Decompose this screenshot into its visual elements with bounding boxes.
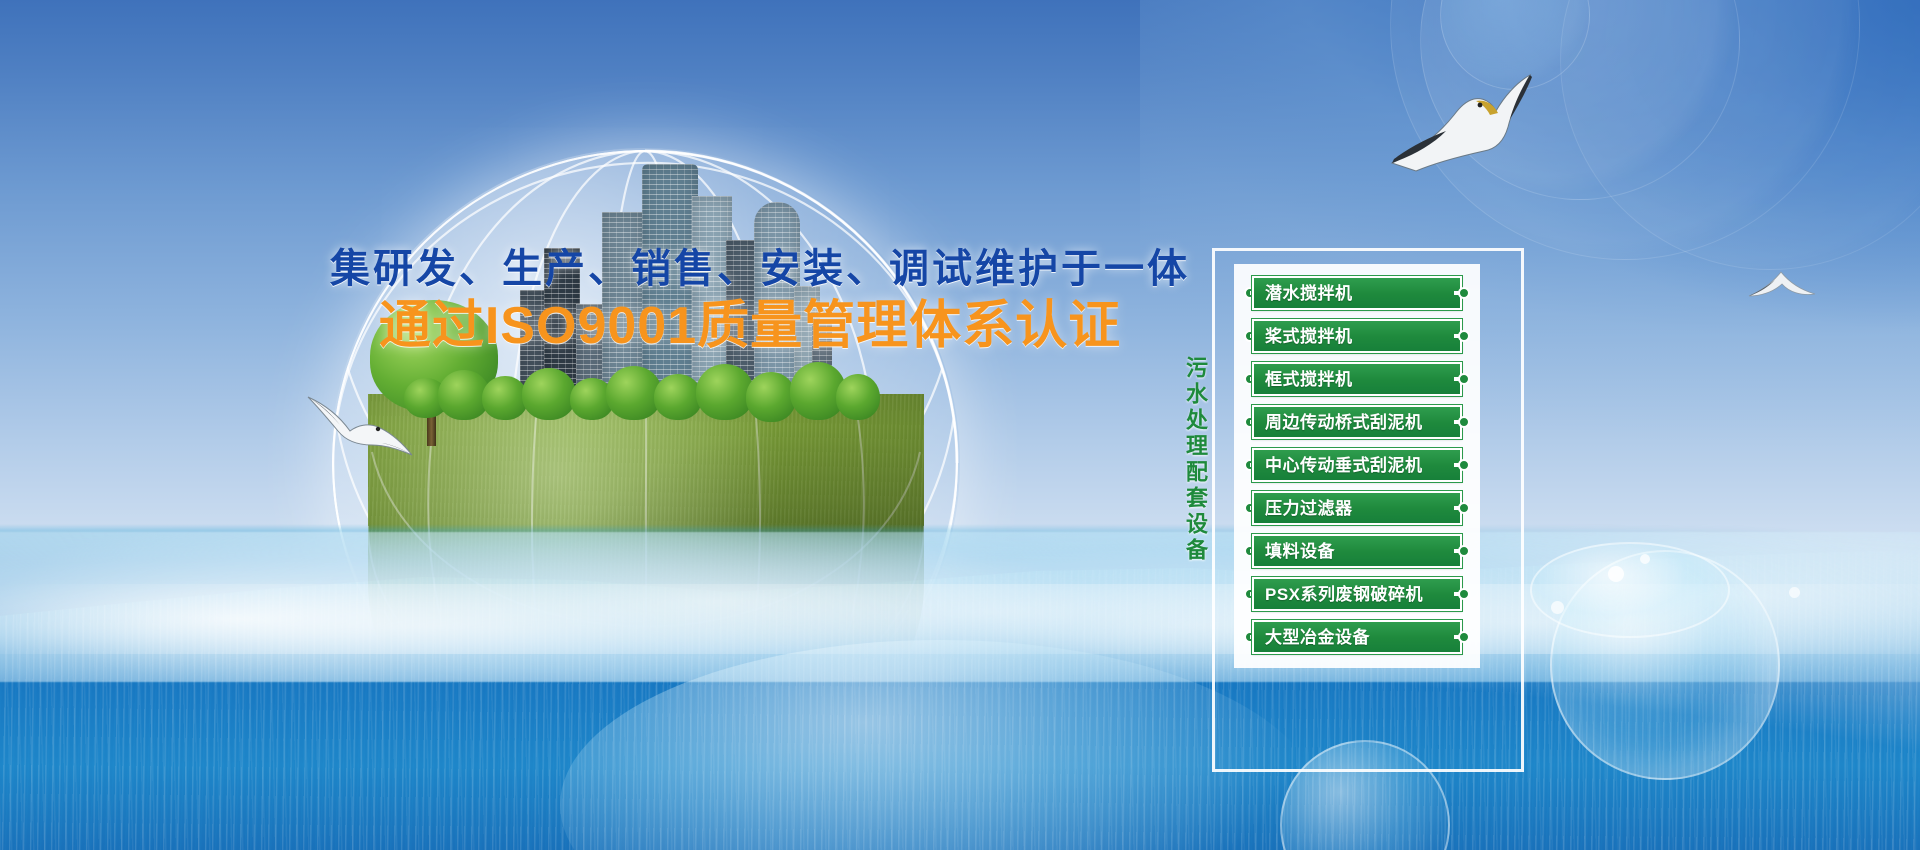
product-label: 桨式搅拌机 [1265,328,1353,345]
water-ripple-texture [0,550,1920,850]
product-label: 压力过滤器 [1265,500,1353,517]
plate-knob-right-icon [1458,631,1470,643]
product-label: 中心传动垂式刮泥机 [1265,457,1423,474]
plate-knob-right-icon [1458,545,1470,557]
product-label: 大型冶金设备 [1265,629,1370,646]
plate-knob-right-icon [1458,330,1470,342]
list-item[interactable]: 框式搅拌机 [1242,362,1472,396]
product-label: PSX系列废钢破碎机 [1265,586,1423,603]
product-plate[interactable]: 桨式搅拌机 [1252,319,1462,353]
product-label: 潜水搅拌机 [1265,285,1353,302]
product-plate[interactable]: 框式搅拌机 [1252,362,1462,396]
product-plate[interactable]: 大型冶金设备 [1252,620,1462,654]
list-item[interactable]: 填料设备 [1242,534,1472,568]
product-plate[interactable]: 周边传动桥式刮泥机 [1252,405,1462,439]
list-item[interactable]: 周边传动桥式刮泥机 [1242,405,1472,439]
list-item[interactable]: 压力过滤器 [1242,491,1472,525]
list-item[interactable]: 中心传动垂式刮泥机 [1242,448,1472,482]
plate-knob-right-icon [1458,416,1470,428]
list-item[interactable]: 大型冶金设备 [1242,620,1472,654]
headline-block: 集研发、生产、销售、安装、调试维护于一体 通过ISO9001质量管理体系认证 [330,246,1170,355]
headline-primary: 集研发、生产、销售、安装、调试维护于一体 [330,246,1170,292]
panel-vertical-label: 污水处理配套设备 [1184,356,1206,564]
plate-knob-right-icon [1458,373,1470,385]
product-plate[interactable]: 潜水搅拌机 [1252,276,1462,310]
product-list: 潜水搅拌机 桨式搅拌机 框式搅拌机 [1234,264,1480,668]
water-layer [0,520,1920,850]
product-list-panel: 污水处理配套设备 潜水搅拌机 桨式搅拌机 [1212,248,1524,772]
headline-secondary: 通过ISO9001质量管理体系认证 [330,298,1170,355]
plate-knob-right-icon [1458,287,1470,299]
product-plate[interactable]: 压力过滤器 [1252,491,1462,525]
plate-knob-right-icon [1458,502,1470,514]
product-label: 框式搅拌机 [1265,371,1353,388]
product-plate[interactable]: 中心传动垂式刮泥机 [1252,448,1462,482]
promotional-banner: 集研发、生产、销售、安装、调试维护于一体 通过ISO9001质量管理体系认证 污… [0,0,1920,850]
list-item[interactable]: 桨式搅拌机 [1242,319,1472,353]
product-label: 周边传动桥式刮泥机 [1265,414,1423,431]
plate-knob-right-icon [1458,459,1470,471]
plate-knob-right-icon [1458,588,1470,600]
list-item[interactable]: 潜水搅拌机 [1242,276,1472,310]
product-plate[interactable]: PSX系列废钢破碎机 [1252,577,1462,611]
tree-line [400,348,870,428]
product-plate[interactable]: 填料设备 [1252,534,1462,568]
product-label: 填料设备 [1265,543,1335,560]
list-item[interactable]: PSX系列废钢破碎机 [1242,577,1472,611]
